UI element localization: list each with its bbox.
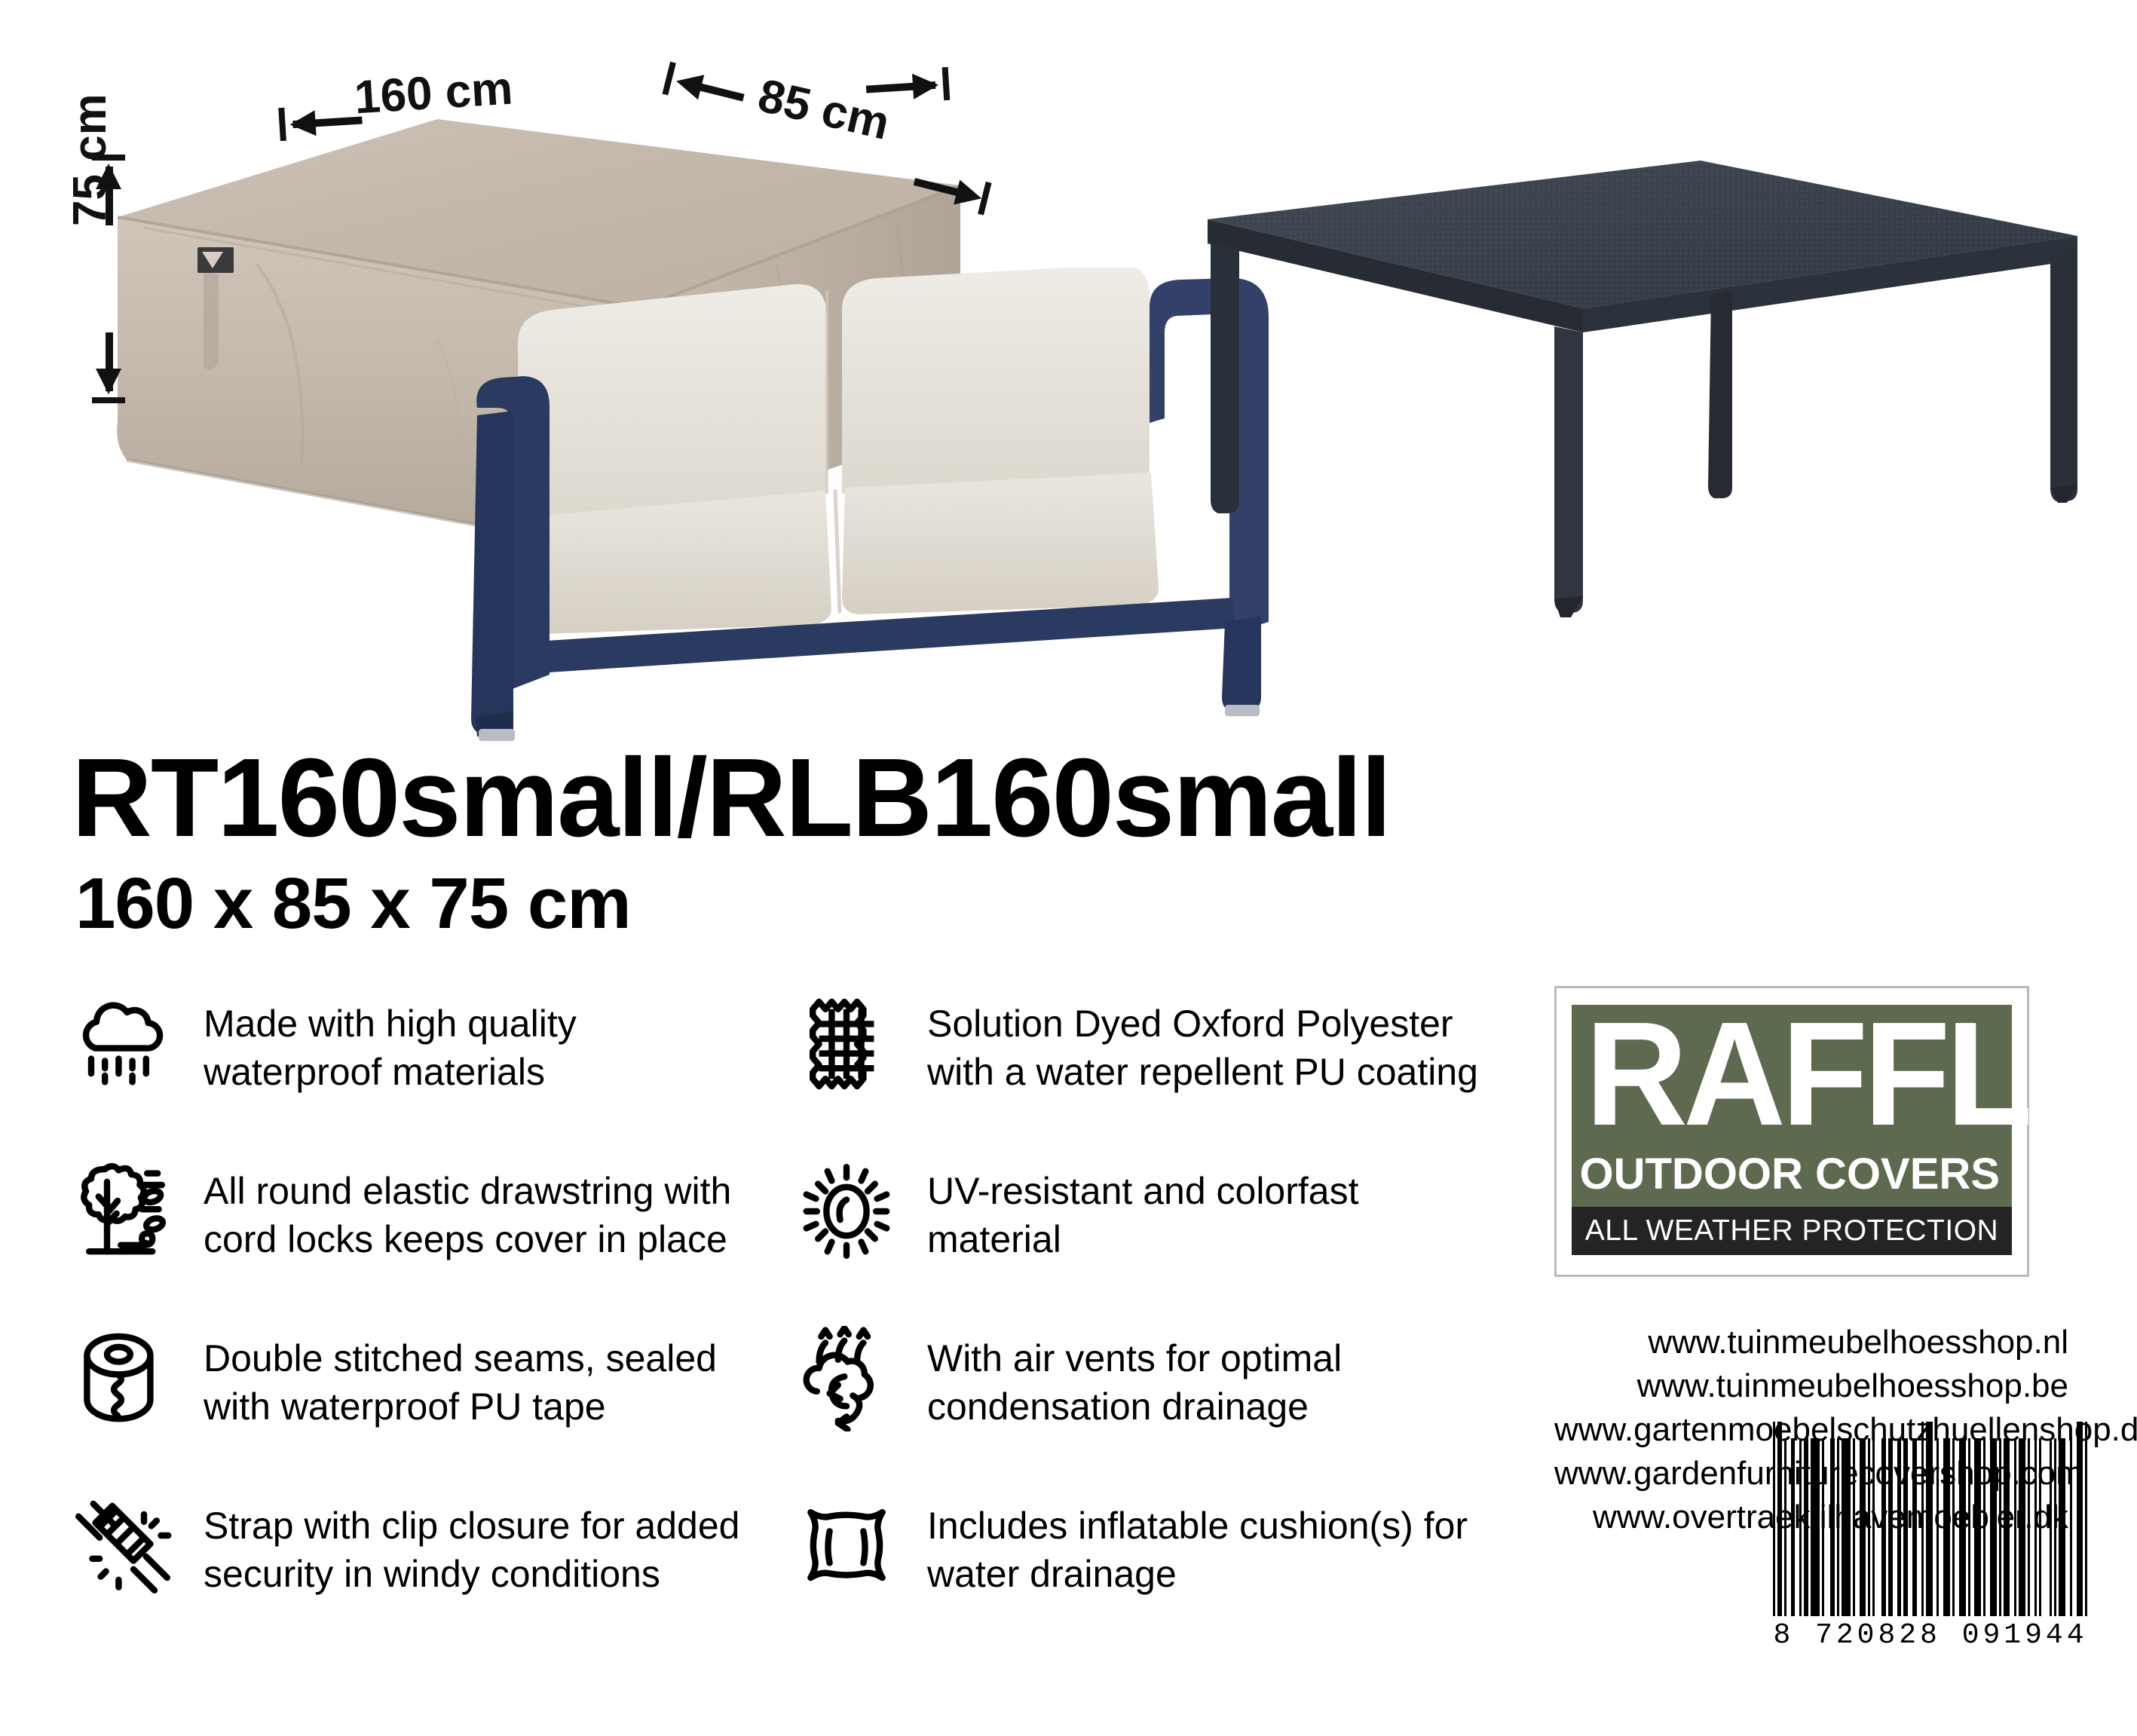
brand-subtitle: OUTDOOR COVERS [1580, 1153, 2001, 1196]
garden-table-illustration [1183, 147, 2088, 629]
garden-sofa-illustration [471, 268, 1300, 742]
feature-item: All round elastic drawstring with cord l… [66, 1155, 790, 1322]
feature-item: Made with high quality waterproof materi… [66, 987, 790, 1155]
feature-item: UV-resistant and colorfast material [790, 1155, 1499, 1322]
feature-item: Includes inflatable cushion(s) for water… [790, 1490, 1499, 1657]
feature-item: Strap with clip closure for added securi… [66, 1490, 790, 1657]
barcode-number: 8 720828 091944 [1773, 1619, 2088, 1652]
product-photo-group: 160 cm 85 cm 75 cm [0, 0, 2137, 761]
barcode-bars [1773, 1422, 2088, 1616]
feature-text: UV-resistant and colorfast material [927, 1155, 1485, 1263]
strap-clip-icon [66, 1490, 179, 1603]
product-title: RT160small/RLB160small [72, 742, 1390, 854]
brand-name: RAFFLES [1585, 1000, 2137, 1148]
air-vent-cloud-icon [790, 1322, 903, 1435]
logo-tagline-bar: ALL WEATHER PROTECTION [1572, 1207, 2012, 1255]
feature-text: Made with high quality waterproof materi… [204, 987, 761, 1096]
product-size: 160 x 85 x 75 cm [75, 868, 1390, 940]
feature-item: Double stitched seams, sealed with water… [66, 1322, 790, 1490]
website-url[interactable]: www.tuinmeubelhoesshop.be [1554, 1364, 2068, 1408]
feature-text: Includes inflatable cushion(s) for water… [927, 1490, 1485, 1598]
feature-list: Made with high quality waterproof materi… [66, 987, 1499, 1657]
feature-text: Double stitched seams, sealed with water… [204, 1322, 761, 1431]
feature-text: All round elastic drawstring with cord l… [204, 1155, 761, 1263]
title-block: RT160small/RLB160small 160 x 85 x 75 cm [72, 742, 1390, 940]
website-url[interactable]: www.tuinmeubelhoesshop.nl [1554, 1321, 2068, 1364]
barcode: 8 720828 091944 [1773, 1422, 2088, 1652]
brand-logo: RAFFLES OUTDOOR COVERS ALL WEATHER PROTE… [1554, 986, 2029, 1277]
feature-item: Solution Dyed Oxford Polyester with a wa… [790, 987, 1499, 1155]
feature-text: Strap with clip closure for added securi… [204, 1490, 761, 1598]
feature-text: With air vents for optimal condensation … [927, 1322, 1485, 1431]
feature-item: With air vents for optimal condensation … [790, 1322, 1499, 1490]
width-dimension-label: 160 cm [353, 62, 514, 125]
height-dimension-label: 75 cm [63, 93, 117, 226]
tape-roll-icon [66, 1322, 179, 1435]
brand-tagline: ALL WEATHER PROTECTION [1585, 1214, 1998, 1248]
fabric-weave-icon [790, 987, 903, 1101]
logo-green-block: RAFFLES OUTDOOR COVERS [1572, 1005, 2012, 1207]
rain-cloud-icon [66, 987, 179, 1101]
feature-text: Solution Dyed Oxford Polyester with a wa… [927, 987, 1485, 1096]
cushion-icon [790, 1490, 903, 1603]
sun-icon [790, 1155, 903, 1268]
tree-wind-icon [66, 1155, 179, 1268]
